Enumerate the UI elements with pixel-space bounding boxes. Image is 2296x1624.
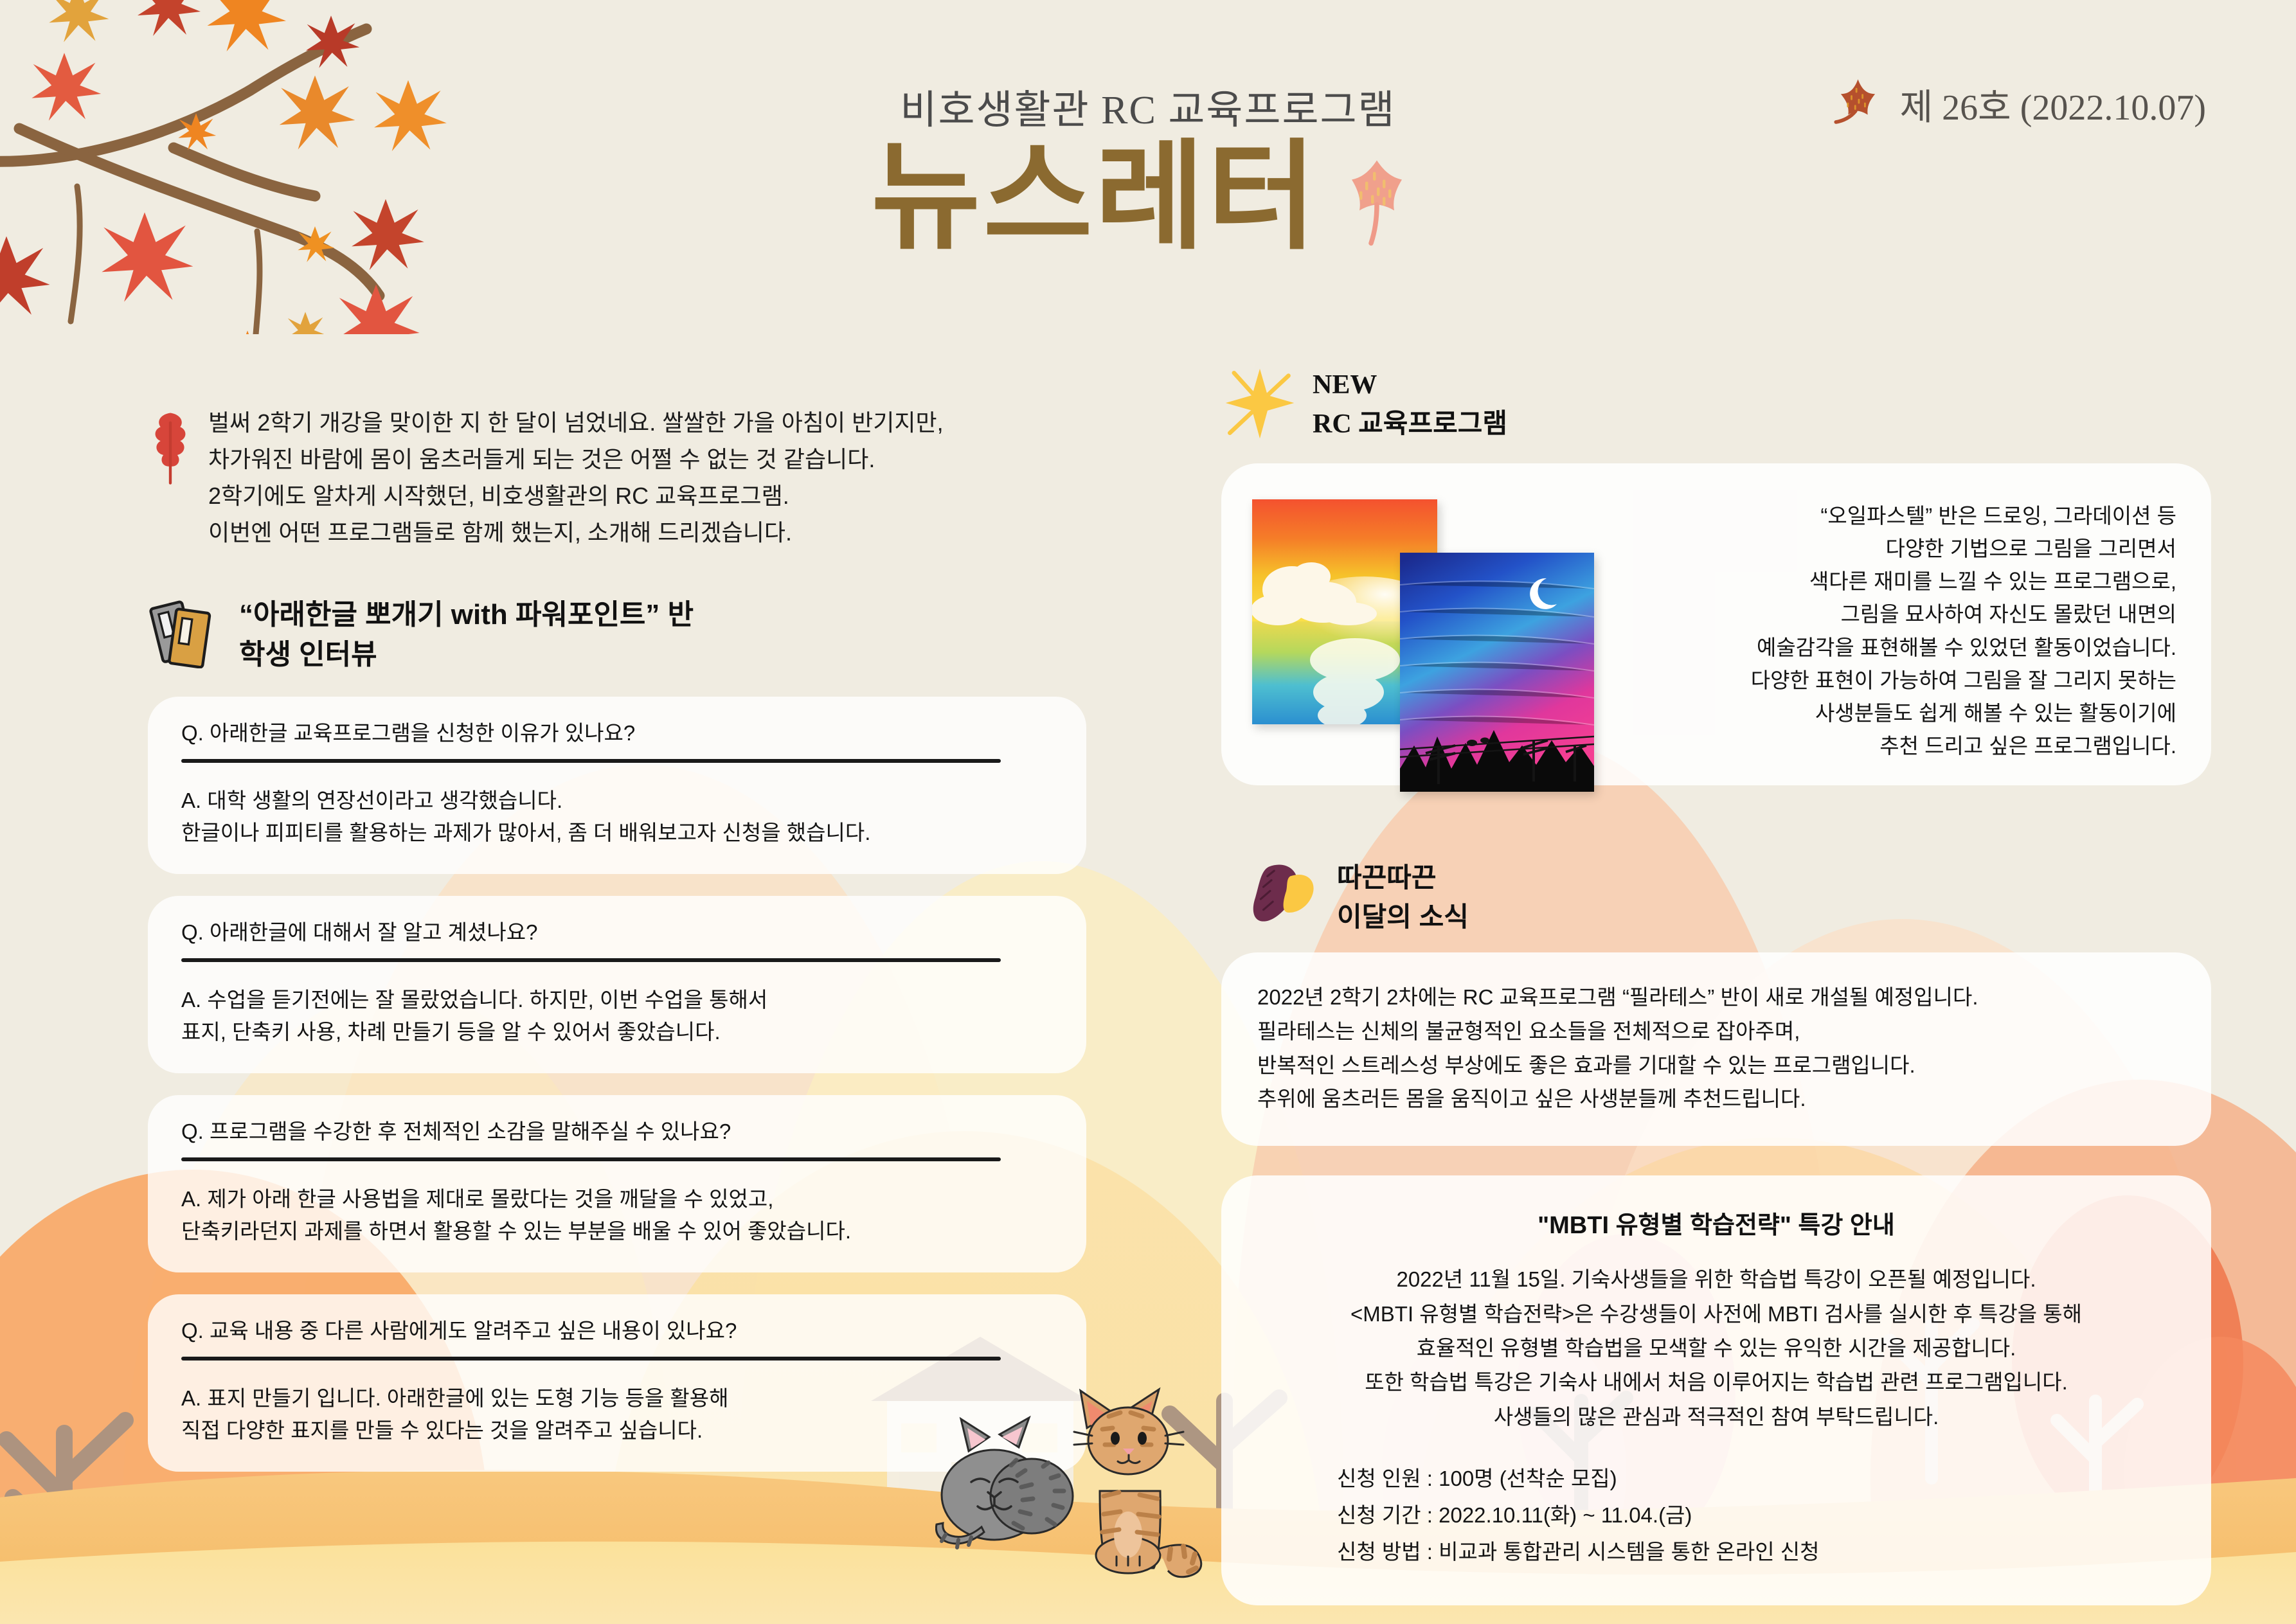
qa-card: Q. 프로그램을 수강한 후 전체적인 소감을 말해주실 수 있나요? A. 제… (148, 1095, 1086, 1272)
maple-leaf-icon (1827, 72, 1888, 136)
interview-heading: “아래한글 뽀개기 with 파워포인트” 반 학생 인터뷰 (239, 591, 694, 675)
left-column: 벌써 2학기 개강을 맞이한 지 한 달이 넘었네요. 쌀쌀한 가을 아침이 반… (148, 405, 1086, 1472)
monthly-news-header: 따끈따끈 이달의 소식 (1221, 856, 2211, 937)
qa-answer: A. 대학 생활의 연장선이라고 생각했습니다. 한글이나 피피티를 활용하는 … (181, 785, 1053, 848)
sparkle-star-icon (1221, 363, 1298, 447)
qa-divider (181, 759, 1001, 763)
new-program-header: NEW RC 교육프로그램 (1221, 363, 2211, 447)
qa-card: Q. 아래한글 교육프로그램을 신청한 이유가 있나요? A. 대학 생활의 연… (148, 697, 1086, 874)
right-column: NEW RC 교육프로그램 (1221, 363, 2211, 1605)
monthly-news-text: 2022년 2학기 2차에는 RC 교육프로그램 “필라테스” 반이 새로 개설… (1257, 981, 2175, 1116)
mbti-details: 신청 인원 : 100명 (선착순 모집) 신청 기간 : 2022.10.11… (1260, 1461, 2173, 1570)
qa-divider (181, 1357, 1001, 1361)
page-title: 뉴스레터 (871, 131, 1319, 263)
qa-divider (181, 958, 1001, 962)
page-header: 비호생활관 RC 교육프로그램 뉴스레터 (0, 0, 2296, 334)
interview-section-header: “아래한글 뽀개기 with 파워포인트” 반 학생 인터뷰 (148, 591, 1086, 675)
qa-answer: A. 표지 만들기 입니다. 아래한글에 있는 도형 기능 등을 활용해 직접 … (181, 1382, 1053, 1446)
mbti-capacity: 신청 인원 : 100명 (선착순 모집) (1337, 1461, 2173, 1497)
qa-card: Q. 아래한글에 대해서 잘 알고 계셨나요? A. 수업을 듣기전에는 잘 몰… (148, 896, 1086, 1073)
issue-info: 제 26호 (2022.10.07) (1827, 72, 2206, 136)
books-icon (148, 591, 225, 672)
intro-text: 벌써 2학기 개강을 맞이한 지 한 달이 넘었네요. 쌀쌀한 가을 아침이 반… (208, 405, 944, 551)
artwork-stack (1246, 485, 1644, 762)
new-program-description: “오일파스텔” 반은 드로잉, 그라데이션 등 다양한 기법으로 그림을 그리면… (1644, 485, 2183, 762)
issue-number: 제 26호 (2022.10.07) (1900, 78, 2206, 130)
qa-answer: A. 제가 아래 한글 사용법을 제대로 몰랐다는 것을 깨달을 수 있었고, … (181, 1183, 1053, 1247)
mbti-panel: "MBTI 유형별 학습전략" 특강 안내 2022년 11월 15일. 기숙사… (1221, 1175, 2211, 1605)
orange-tabby-cat-illustration (1074, 1389, 1201, 1577)
mbti-period: 신청 기간 : 2022.10.11(화) ~ 11.04.(금) (1337, 1497, 2173, 1534)
newsletter-page: 비호생활관 RC 교육프로그램 뉴스레터 (0, 0, 2296, 1624)
night-sky-moon-forest-artwork (1400, 553, 1594, 792)
monthly-news-panel: 2022년 2학기 2차에는 RC 교육프로그램 “필라테스” 반이 새로 개설… (1221, 952, 2211, 1146)
qa-question: Q. 프로그램을 수강한 후 전체적인 소감을 말해주실 수 있나요? (181, 1118, 1053, 1146)
intro-block: 벌써 2학기 개강을 맞이한 지 한 달이 넘었네요. 쌀쌀한 가을 아침이 반… (148, 405, 1086, 551)
sweet-potato-icon (1247, 856, 1324, 933)
new-program-panel: “오일파스텔” 반은 드로잉, 그라데이션 등 다양한 기법으로 그림을 그리면… (1221, 463, 2211, 785)
maple-leaf-icon (1329, 141, 1425, 254)
monthly-news-heading: 따끈따끈 이달의 소식 (1337, 856, 1469, 937)
qa-answer: A. 수업을 듣기전에는 잘 몰랐었습니다. 하지만, 이번 수업을 통해서 표… (181, 984, 1053, 1048)
qa-divider (181, 1157, 1001, 1161)
mbti-body: 2022년 11월 15일. 기숙사생들을 위한 학습법 특강이 오픈될 예정입… (1260, 1262, 2173, 1434)
newsletter-title-wrap: 뉴스레터 (0, 138, 2296, 257)
qa-question: Q. 아래한글 교육프로그램을 신청한 이유가 있나요? (181, 720, 1053, 747)
oak-leaf-icon (148, 409, 193, 551)
new-program-heading: NEW RC 교육프로그램 (1313, 363, 1507, 444)
mbti-title: "MBTI 유형별 학습전략" 특강 안내 (1260, 1205, 2173, 1240)
mbti-method: 신청 방법 : 비교과 통합관리 시스템을 통한 온라인 신청 (1337, 1534, 2173, 1571)
qa-question: Q. 교육 내용 중 다른 사람에게도 알려주고 싶은 내용이 있나요? (181, 1317, 1053, 1345)
qa-question: Q. 아래한글에 대해서 잘 알고 계셨나요? (181, 919, 1053, 947)
gray-cat-illustration (936, 1418, 1073, 1548)
cats-illustration (935, 1369, 1269, 1587)
